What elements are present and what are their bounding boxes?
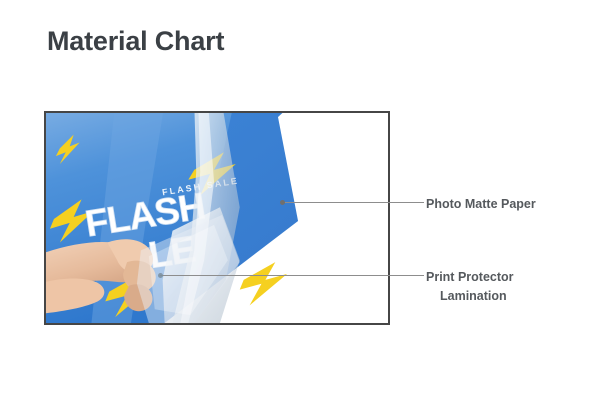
callout-label-line-2: Lamination — [426, 287, 514, 306]
product-photo-illustration: FLASH SALE FLASH SALE — [46, 113, 388, 323]
callout-label-photo-matte-paper: Photo Matte Paper — [426, 195, 536, 214]
material-chart-page: Material Chart — [0, 0, 600, 400]
callout-label-line-1: Print Protector — [426, 270, 514, 284]
figure-frame: FLASH SALE FLASH SALE — [44, 111, 390, 325]
product-photo-image: FLASH SALE FLASH SALE — [46, 113, 388, 323]
leader-line-photo-matte-paper — [282, 202, 424, 203]
leader-dot-photo-matte-paper — [280, 200, 285, 205]
page-title: Material Chart — [47, 26, 224, 57]
callout-label-print-protector-lamination: Print Protector Lamination — [426, 268, 514, 307]
leader-line-print-protector-lamination — [160, 275, 424, 276]
leader-dot-print-protector-lamination — [158, 273, 163, 278]
